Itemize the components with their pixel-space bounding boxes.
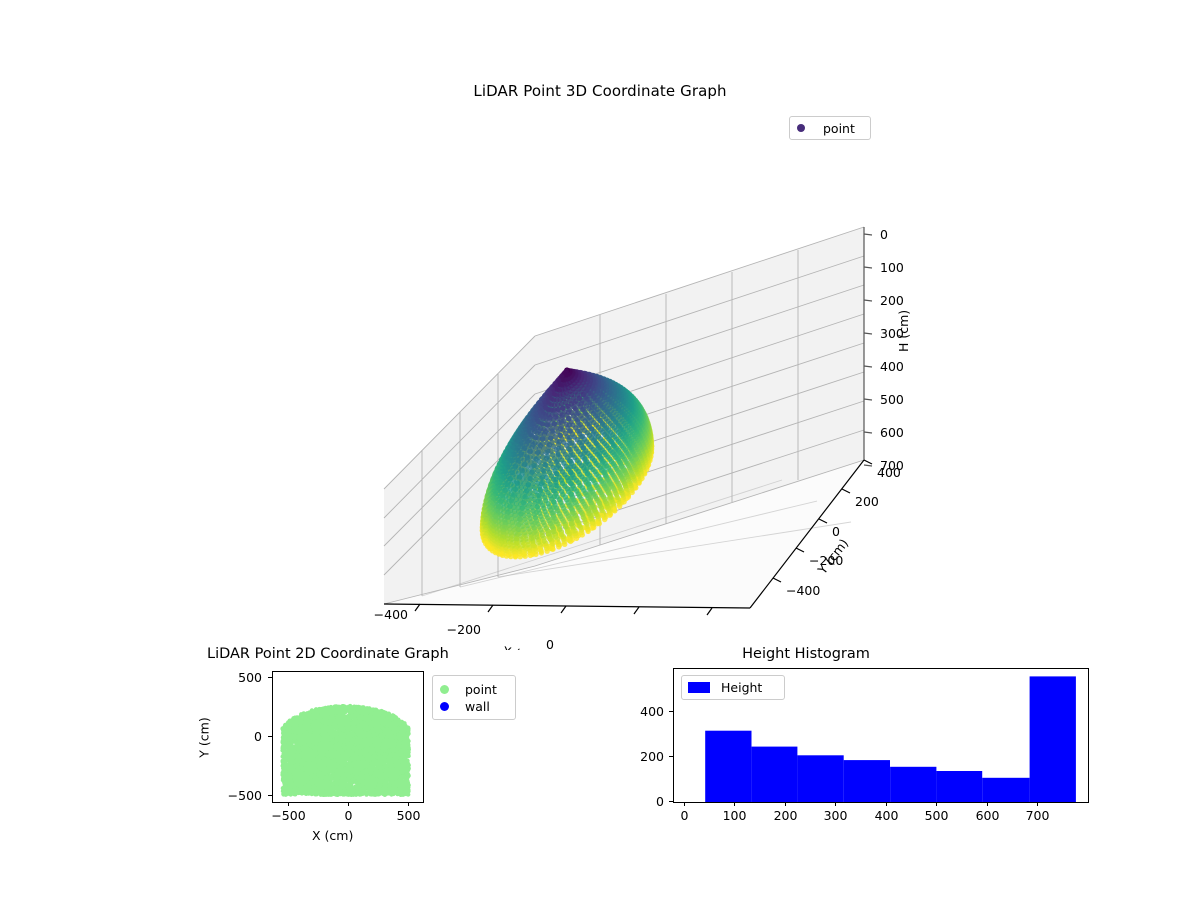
histogram-bar bbox=[844, 760, 890, 802]
xtick-mark-hist-300 bbox=[835, 802, 836, 806]
xtick-mark-hist-100 bbox=[734, 802, 735, 806]
ytick-mark-hist-0 bbox=[669, 801, 673, 802]
ytick-label-2d--500: −500 bbox=[216, 788, 262, 803]
ytick-mark-hist-400 bbox=[669, 711, 673, 712]
xtick-mark-2d-500 bbox=[408, 802, 409, 806]
xtick-label-2d-500: 500 bbox=[386, 808, 431, 823]
legend-2d: point wall bbox=[432, 675, 516, 720]
xtick-label-hist-400: 400 bbox=[864, 808, 909, 823]
legend-swatch-height-icon bbox=[688, 682, 710, 693]
ytick-label-2d-500: 500 bbox=[216, 670, 262, 685]
ytick-mark-2d-500 bbox=[268, 677, 272, 678]
ztick-100: 100 bbox=[880, 260, 904, 275]
page-title-2d: LiDAR Point 2D Coordinate Graph bbox=[207, 646, 449, 662]
ztick-200: 200 bbox=[880, 293, 904, 308]
histogram-bar bbox=[936, 771, 982, 802]
ytick-label-hist-200: 200 bbox=[620, 749, 664, 764]
xtick-label-2d--500: −500 bbox=[266, 808, 311, 823]
xtick-label-hist-0: 0 bbox=[662, 808, 707, 823]
histogram-bar bbox=[1030, 676, 1076, 802]
xtick-label-hist-600: 600 bbox=[965, 808, 1010, 823]
ytick-mark-hist-200 bbox=[669, 756, 673, 757]
ytick-label-hist-0: 0 bbox=[620, 794, 664, 809]
xtick-label-2d-0: 0 bbox=[326, 808, 371, 823]
histogram-bar bbox=[982, 778, 1029, 802]
axis-label-x-2d: X (cm) bbox=[312, 828, 353, 843]
ztick-500: 500 bbox=[880, 392, 904, 407]
xtick-mark-hist-400 bbox=[886, 802, 887, 806]
axis-label-h: H (cm) bbox=[896, 310, 911, 352]
ytick-mark-2d-0 bbox=[268, 736, 272, 737]
legend-item-wall: wall bbox=[440, 698, 508, 715]
xtick-label-hist-500: 500 bbox=[914, 808, 959, 823]
xtick-mark-2d--500 bbox=[288, 802, 289, 806]
xtick-label-hist-300: 300 bbox=[813, 808, 858, 823]
axes-3d-zticks bbox=[864, 234, 872, 466]
xtick-label-hist-200: 200 bbox=[763, 808, 808, 823]
xtick-mark-hist-200 bbox=[785, 802, 786, 806]
legend-histogram: Height bbox=[681, 675, 785, 700]
legend-marker-point-2d-icon bbox=[440, 685, 449, 694]
ytick-label-2d-0: 0 bbox=[216, 729, 262, 744]
ztick-400: 400 bbox=[880, 359, 904, 374]
axes-3d-canvas: 0 100 200 300 400 500 600 700 H (cm) −40… bbox=[330, 130, 950, 650]
histogram-bar bbox=[705, 731, 751, 802]
axis-label-y-2d: Y (cm) bbox=[197, 708, 212, 768]
xtick-label-hist-100: 100 bbox=[712, 808, 757, 823]
matplotlib-figure: LiDAR Point 3D Coordinate Graph point bbox=[0, 0, 1200, 900]
ytick-mark-2d--500 bbox=[268, 795, 272, 796]
page-title-hist: Height Histogram bbox=[742, 646, 870, 662]
xtick-mark-hist-600 bbox=[987, 802, 988, 806]
legend-marker-wall-icon bbox=[440, 702, 449, 711]
axes-3d-lidar: 0 100 200 300 400 500 600 700 H (cm) −40… bbox=[330, 130, 950, 650]
axis-label-x-3d: X (cm) bbox=[501, 643, 544, 650]
xtick-mark-hist-500 bbox=[936, 802, 937, 806]
ztick-0: 0 bbox=[880, 227, 888, 242]
xtick-mark-hist-700 bbox=[1037, 802, 1038, 806]
histogram-bar bbox=[752, 747, 798, 802]
histogram-bar bbox=[890, 767, 936, 802]
legend-label-point-2d: point bbox=[465, 682, 497, 697]
page-title-3d: LiDAR Point 3D Coordinate Graph bbox=[0, 82, 1200, 100]
point-cloud-2d bbox=[280, 704, 411, 797]
ytick-label-hist-400: 400 bbox=[620, 704, 664, 719]
axes-3d-xticklabels: −400 −200 0 200 400 bbox=[374, 607, 700, 650]
xtick-0: 0 bbox=[546, 637, 554, 650]
xtick--200: −200 bbox=[447, 622, 481, 637]
xtick--400: −400 bbox=[374, 607, 408, 622]
histogram-bar bbox=[797, 755, 843, 802]
legend-item-point: point bbox=[440, 681, 508, 698]
xtick-mark-2d-0 bbox=[348, 802, 349, 806]
legend-label-height: Height bbox=[721, 680, 762, 695]
ytick-200: 200 bbox=[855, 494, 879, 509]
ytick-400: 400 bbox=[877, 465, 901, 480]
axes-2d-canvas bbox=[273, 672, 423, 802]
legend-label-wall: wall bbox=[465, 699, 490, 714]
xtick-mark-hist-0 bbox=[684, 802, 685, 806]
ztick-600: 600 bbox=[880, 425, 904, 440]
axes-2d-lidar bbox=[272, 671, 424, 803]
ytick--400: −400 bbox=[786, 583, 820, 598]
xtick-label-hist-700: 700 bbox=[1015, 808, 1060, 823]
